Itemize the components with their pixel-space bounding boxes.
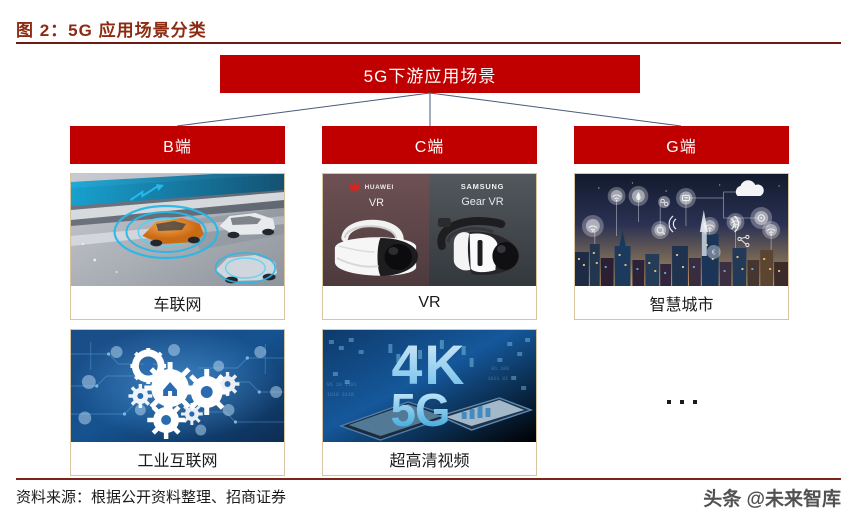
category-column-g: G端 [574, 126, 789, 475]
scenario-card-connected-vehicles: 车联网 [70, 173, 285, 320]
svg-text:VR: VR [369, 197, 384, 209]
category-node-b-label: B端 [163, 133, 192, 157]
category-node-g: G端 [574, 126, 789, 164]
category-columns: B端 [0, 126, 857, 471]
title-divider [16, 42, 841, 44]
scenario-caption-ultra-hd-video: 超高清视频 [323, 442, 536, 475]
more-scenarios-indicator [574, 329, 789, 475]
category-column-b: B端 [70, 126, 285, 476]
vr-headsets-image: HUAWEI VR SAMSUNG Gear VR [323, 174, 536, 286]
scenario-card-smart-city: € 智慧城市 [574, 173, 789, 320]
footer-divider [16, 478, 841, 480]
category-node-c: C端 [322, 126, 537, 164]
source-note: 资料来源：根据公开资料整理、招商证券 [16, 486, 286, 507]
category-node-g-label: G端 [666, 133, 696, 157]
svg-text:€: € [712, 250, 716, 257]
scenario-caption-industrial-internet: 工业互联网 [71, 442, 284, 475]
scenario-card-vr: HUAWEI VR SAMSUNG Gear VR [322, 173, 537, 320]
watermark: 头条 @未来智库 [703, 484, 841, 511]
ellipsis-dot-2 [680, 400, 684, 404]
figure-container: 图 2：5G 应用场景分类 5G下游应用场景 B端 [0, 0, 857, 518]
category-node-b: B端 [70, 126, 285, 164]
svg-text:01 10 1101: 01 10 1101 [327, 382, 357, 388]
ultra-hd-video-image: 01 10 1101 1010 0110 01 100 1011 01 4K [323, 330, 536, 442]
svg-text:1010 0110: 1010 0110 [327, 392, 354, 398]
connected-vehicles-image [71, 174, 284, 286]
scenario-caption-vr: VR [323, 286, 536, 319]
ellipsis-dot-1 [667, 400, 671, 404]
svg-text:HUAWEI: HUAWEI [365, 184, 394, 191]
root-node: 5G下游应用场景 [220, 55, 640, 93]
scenario-caption-smart-city: 智慧城市 [575, 286, 788, 319]
scenario-card-industrial-internet: 工业互联网 [70, 329, 285, 476]
scenario-caption-connected-vehicles: 车联网 [71, 286, 284, 319]
category-column-c: C端 [322, 126, 537, 476]
industrial-internet-image [71, 330, 284, 442]
scenario-card-ultra-hd-video: 01 10 1101 1010 0110 01 100 1011 01 4K [322, 329, 537, 476]
svg-text:SAMSUNG: SAMSUNG [461, 182, 504, 191]
category-node-c-label: C端 [415, 133, 445, 157]
svg-text:01 100: 01 100 [491, 366, 509, 372]
svg-text:Gear VR: Gear VR [461, 196, 503, 208]
root-node-label: 5G下游应用场景 [364, 62, 497, 87]
svg-text:1011 01: 1011 01 [487, 376, 508, 382]
smart-city-image: € [575, 174, 788, 286]
page-title: 图 2：5G 应用场景分类 [16, 16, 207, 41]
ellipsis-dot-3 [693, 400, 697, 404]
svg-text:5G: 5G [391, 385, 450, 436]
